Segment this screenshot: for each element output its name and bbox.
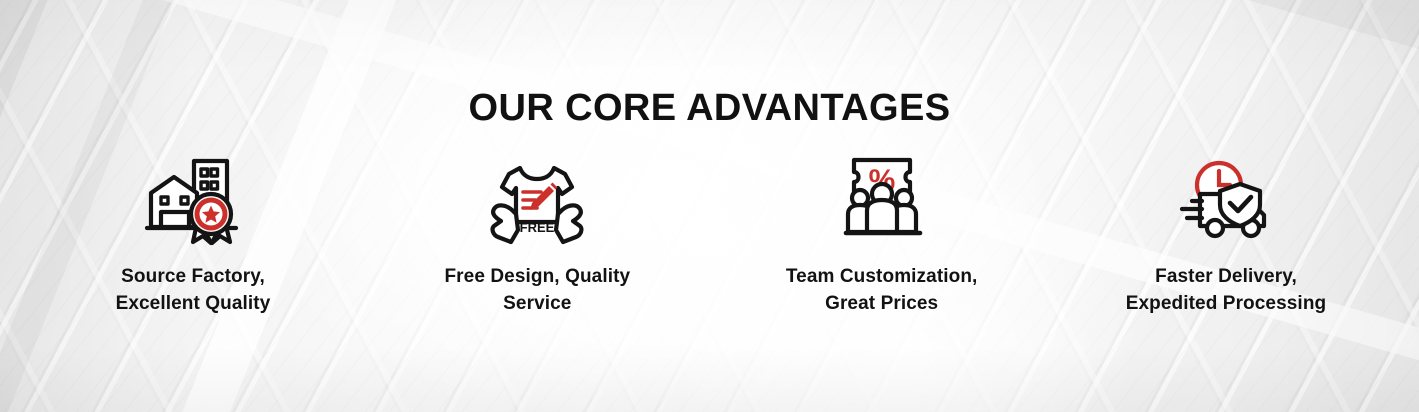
feature-label-free-design: Free Design, Quality Service xyxy=(444,264,630,318)
team-discount-coupon-icon: % xyxy=(830,152,934,248)
feature-label-source-factory: Source Factory, Excellent Quality xyxy=(116,264,271,318)
feature-item-source-factory: Source Factory, Excellent Quality xyxy=(28,152,358,318)
factory-quality-seal-icon xyxy=(141,152,245,248)
feature-label-line-1: Source Factory, xyxy=(121,266,265,287)
feature-label-team-customization: Team Customization, Great Prices xyxy=(786,264,978,318)
feature-item-faster-delivery: Faster Delivery, Expedited Processing xyxy=(1061,152,1391,318)
feature-label-line-2: Expedited Processing xyxy=(1126,293,1327,314)
feature-label-line-2: Excellent Quality xyxy=(116,293,271,314)
core-advantages-banner: OUR CORE ADVANTAGES xyxy=(0,0,1419,412)
page-title: OUR CORE ADVANTAGES xyxy=(0,87,1419,131)
tshirt-free-text: FREE xyxy=(520,220,555,235)
feature-list: Source Factory, Excellent Quality xyxy=(0,152,1419,318)
feature-label-line-2: Service xyxy=(503,293,571,314)
delivery-truck-clock-shield-icon xyxy=(1174,152,1278,248)
feature-label-line-1: Free Design, Quality xyxy=(444,266,630,287)
feature-label-line-1: Team Customization, xyxy=(786,266,978,287)
tshirt-free-design-hands-icon: FREE xyxy=(485,152,589,248)
feature-item-free-design: FREE Free Design, Quality Service xyxy=(372,152,702,318)
feature-label-line-2: Great Prices xyxy=(825,293,938,314)
feature-label-line-1: Faster Delivery, xyxy=(1155,266,1297,287)
feature-label-faster-delivery: Faster Delivery, Expedited Processing xyxy=(1126,264,1327,318)
feature-item-team-customization: % xyxy=(717,152,1047,318)
banner-content: OUR CORE ADVANTAGES xyxy=(0,0,1419,412)
